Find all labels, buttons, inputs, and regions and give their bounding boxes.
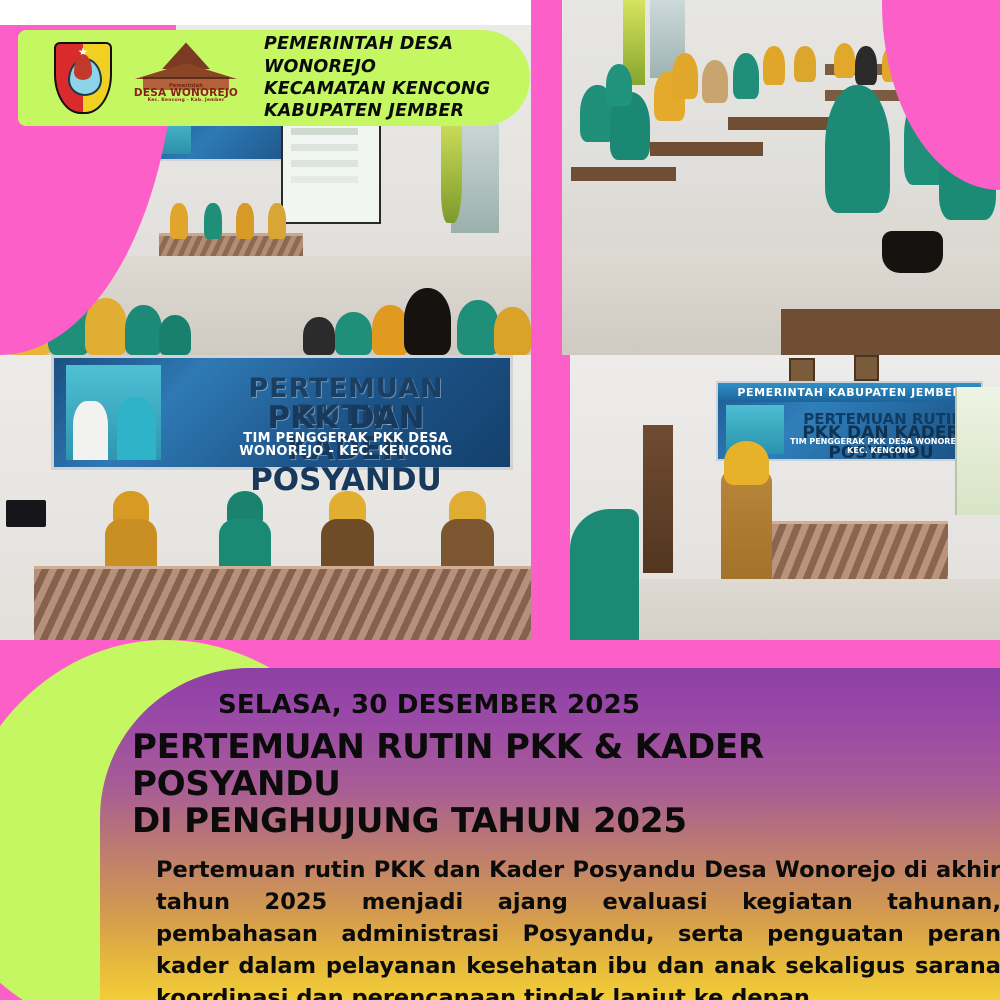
attendee-foreground xyxy=(825,85,891,213)
attendee xyxy=(606,64,632,107)
organization-title: PEMERINTAH DESA WONOREJO KECAMATAN KENCO… xyxy=(264,33,530,123)
body-paragraph: Pertemuan rutin PKK dan Kader Posyandu D… xyxy=(156,855,1000,1000)
desk xyxy=(650,142,764,156)
photo-panel-banner: PERTEMUAN RUTIN PKK DAN KADER POSYANDU T… xyxy=(0,355,570,657)
panelist-4 xyxy=(439,491,496,570)
handbag xyxy=(882,231,943,274)
page-title: PERTEMUAN RUTIN PKK & KADER POSYANDU DI … xyxy=(132,729,974,839)
attendee xyxy=(834,43,856,79)
projector-screen xyxy=(281,111,381,224)
speaker-head xyxy=(724,441,769,486)
attendee xyxy=(855,46,877,85)
attendee xyxy=(159,315,191,355)
attendee xyxy=(702,60,728,103)
door xyxy=(643,425,673,572)
banner-line-3: TIM PENGGERAK PKK DESA WONOREJO - KEC. K… xyxy=(781,437,981,455)
banner-line-2: PKK DAN KADER POSYANDU xyxy=(205,403,488,425)
panelist-3 xyxy=(319,491,376,570)
attendee xyxy=(794,46,816,82)
kabupaten-emblem-icon: ★ xyxy=(54,42,112,114)
headline-line-1: PERTEMUAN RUTIN PKK & KADER POSYANDU xyxy=(132,727,764,804)
event-date: SELASA, 30 DESEMBER 2025 xyxy=(218,692,974,719)
attendee xyxy=(763,46,785,85)
banner-header-strip: PEMERINTAH KABUPATEN JEMBER xyxy=(718,383,981,403)
poster-root: PERTEMUAN RUTIN PKK DAN KADER POSYANDU T… xyxy=(0,0,1000,1000)
panelist-1 xyxy=(103,491,160,570)
header-banner: ★ Pemerintah DESA WONOREJO Kec. Kencong … xyxy=(18,30,530,126)
top-white-strip xyxy=(0,0,531,25)
attendee xyxy=(335,312,372,355)
content-panel: SELASA, 30 DESEMBER 2025 PERTEMUAN RUTIN… xyxy=(100,668,1000,1000)
attendee xyxy=(672,53,698,99)
banner-line-3: TIM PENGGERAK PKK DESA WONOREJO - KEC. K… xyxy=(205,432,488,445)
framed-portrait-right xyxy=(854,355,880,381)
panelist-2 xyxy=(217,491,274,570)
attendee xyxy=(404,288,452,355)
speaker-3 xyxy=(236,203,254,239)
attendee xyxy=(457,300,499,355)
photo-speaker-standing: PEMERINTAH KABUPATEN JEMBER PERTEMUAN RU… xyxy=(570,355,1000,675)
banner-portraits xyxy=(66,365,162,461)
desk xyxy=(571,167,676,181)
logo-title: DESA WONOREJO Kec. Kencong - Kab. Jember xyxy=(133,88,239,104)
projector-screen xyxy=(955,387,1000,515)
speaker-1 xyxy=(170,203,188,239)
curtain xyxy=(441,117,462,223)
collage-gap-pink xyxy=(531,355,570,657)
desa-wonorejo-logo-icon: Pemerintah DESA WONOREJO Kec. Kencong - … xyxy=(126,41,246,115)
headline-line-2: DI PENGHUJUNG TAHUN 2025 xyxy=(132,803,974,840)
attendee xyxy=(733,53,759,99)
speaker-2 xyxy=(204,203,222,239)
desk xyxy=(728,117,833,129)
org-line-1: PEMERINTAH DESA WONOREJO xyxy=(264,33,530,78)
attendee xyxy=(303,317,335,355)
banner-line-1: PERTEMUAN RUTIN xyxy=(218,375,473,393)
event-banner: PERTEMUAN RUTIN PKK DAN KADER POSYANDU T… xyxy=(51,355,513,470)
org-line-2: KECAMATAN KENCONG xyxy=(264,78,530,100)
attendee xyxy=(125,305,162,355)
attendee xyxy=(494,307,531,355)
front-desk xyxy=(781,309,1000,355)
amplifier xyxy=(6,500,46,527)
org-line-3: KABUPATEN JEMBER xyxy=(264,100,530,122)
logo-subtitle-text: Kec. Kencong - Kab. Jember xyxy=(133,99,239,104)
speaker-4 xyxy=(268,203,286,239)
